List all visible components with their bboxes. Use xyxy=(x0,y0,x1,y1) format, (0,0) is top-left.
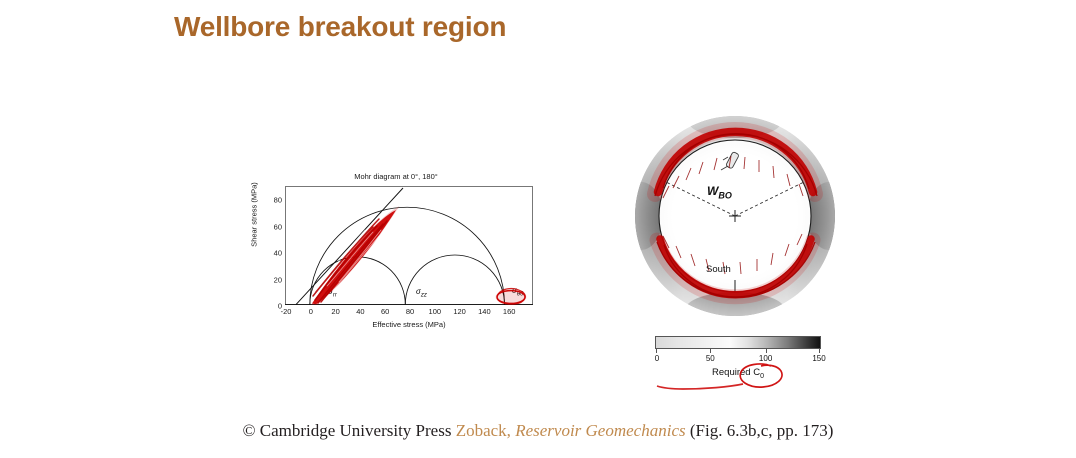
failure-envelope-line xyxy=(296,188,403,305)
x-tick-160: 160 xyxy=(503,304,516,316)
breakout-width-symbol: W xyxy=(707,184,718,198)
wellbore-cross-section xyxy=(633,108,837,330)
mohr-circle-zz-theta xyxy=(405,255,504,305)
colorbar-tick-0: 0 xyxy=(655,354,659,363)
mohr-y-axis-label: Shear stress (MPa) xyxy=(250,165,259,265)
colorbar-tick-150: 150 xyxy=(812,354,825,363)
x-tick-0: 0 xyxy=(309,304,313,316)
x-tick-100: 100 xyxy=(429,304,442,316)
mohr-diagram-figure: Mohr diagram at 0°, 180° 0 20 40 60 80 -… xyxy=(248,172,544,338)
x-tick-20: 20 xyxy=(331,304,339,316)
breakout-width-label: WBO xyxy=(707,184,732,200)
x-tick-80: 80 xyxy=(406,304,414,316)
credit-book-title: Reservoir Geomechanics xyxy=(515,421,685,440)
x-tick-120: 120 xyxy=(453,304,466,316)
breakout-width-subscript: BO xyxy=(718,190,732,200)
x-tick-140: 140 xyxy=(478,304,491,316)
source-credit: © Cambridge University Press Zoback, Res… xyxy=(0,421,1076,441)
red-circle-sigma-theta xyxy=(496,289,527,305)
mohr-curves xyxy=(285,186,533,305)
page-title: Wellbore breakout region xyxy=(174,11,506,43)
south-orientation-label: South xyxy=(706,264,731,275)
wellbore-image-figure: WBO South 0 50 100 150 Required C0 xyxy=(627,108,849,400)
colorbar-gradient xyxy=(655,336,821,349)
red-scribble-annotation xyxy=(310,206,399,305)
colorbar-ticks xyxy=(655,349,821,353)
colorbar-caption: Required C0 xyxy=(655,367,821,380)
mohr-x-axis-label: Effective stress (MPa) xyxy=(285,320,533,329)
colorbar: 0 50 100 150 Required C0 xyxy=(655,336,823,394)
x-tick-m20: -20 xyxy=(281,304,292,316)
slide-canvas: Wellbore breakout region Mohr diagram at… xyxy=(0,0,1076,458)
x-tick-60: 60 xyxy=(381,304,389,316)
colorbar-tick-100: 100 xyxy=(759,354,772,363)
credit-copyright: © Cambridge University Press xyxy=(243,421,456,440)
mohr-chart-title: Mohr diagram at 0°, 180° xyxy=(248,172,544,181)
colorbar-caption-subscript: 0 xyxy=(760,373,764,380)
colorbar-tick-50: 50 xyxy=(706,354,715,363)
credit-author: Zoback, xyxy=(456,421,515,440)
credit-figure-ref: (Fig. 6.3b,c, pp. 173) xyxy=(686,421,834,440)
x-tick-40: 40 xyxy=(356,304,364,316)
colorbar-caption-text: Required C xyxy=(712,367,760,378)
